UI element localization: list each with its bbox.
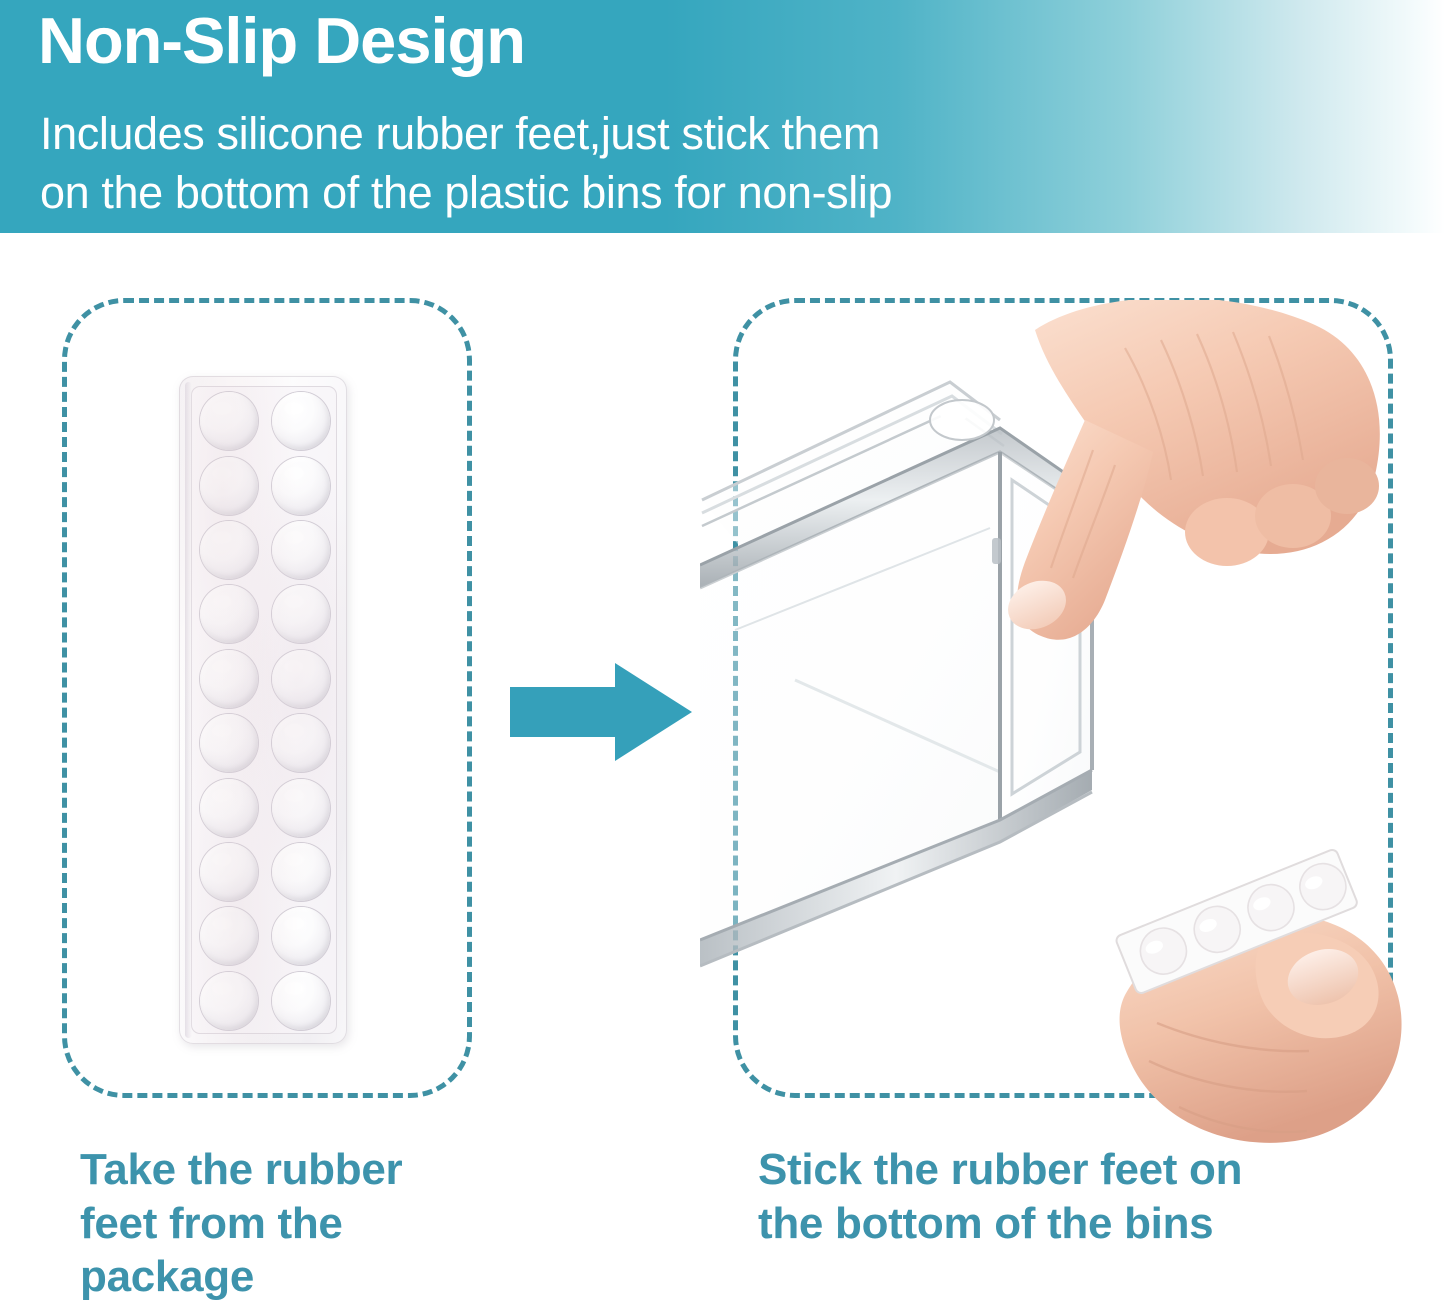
caption-take-rubber-feet: Take the rubber feet from the package: [80, 1143, 510, 1304]
caption-right-line-1: Stick the rubber feet on: [758, 1143, 1398, 1197]
subtitle-line-1: Includes silicone rubber feet,just stick…: [40, 104, 892, 163]
rubber-foot: [200, 779, 258, 837]
caption-left-line-1: Take the rubber: [80, 1143, 510, 1197]
caption-left-line-2: feet from the: [80, 1197, 510, 1251]
rubber-feet-grid: [195, 390, 335, 1032]
subtitle-line-2: on the bottom of the plastic bins for no…: [40, 163, 892, 222]
rubber-foot: [200, 714, 258, 772]
rubber-foot: [272, 457, 330, 515]
rubber-foot: [200, 843, 258, 901]
hand-pressing-foot: [975, 300, 1395, 720]
rubber-foot: [272, 843, 330, 901]
caption-stick-rubber-feet: Stick the rubber feet on the bottom of t…: [758, 1143, 1398, 1250]
rubber-foot: [272, 779, 330, 837]
rubber-foot: [272, 714, 330, 772]
rubber-foot: [272, 907, 330, 965]
caption-right-line-2: the bottom of the bins: [758, 1197, 1398, 1251]
page-title: Non-Slip Design: [38, 7, 525, 75]
rubber-foot: [200, 972, 258, 1030]
rubber-foot: [200, 521, 258, 579]
rubber-foot: [272, 521, 330, 579]
page-subtitle: Includes silicone rubber feet,just stick…: [40, 104, 892, 223]
rubber-feet-strip-image: [179, 376, 347, 1044]
infographic-page: Non-Slip Design Includes silicone rubber…: [0, 0, 1445, 1305]
caption-left-line-3: package: [80, 1250, 510, 1304]
header-banner: Non-Slip Design Includes silicone rubber…: [0, 0, 1445, 233]
rubber-foot: [200, 457, 258, 515]
right-arrow-icon: [510, 663, 692, 761]
rubber-foot: [272, 650, 330, 708]
rubber-foot: [200, 650, 258, 708]
rubber-foot: [200, 585, 258, 643]
strip-left-edge: [185, 382, 192, 1038]
rubber-foot: [272, 392, 330, 450]
rubber-foot: [200, 392, 258, 450]
rubber-foot: [272, 972, 330, 1030]
rubber-foot: [200, 907, 258, 965]
rubber-foot: [272, 585, 330, 643]
mini-rubber-feet-strip: [1105, 845, 1365, 995]
